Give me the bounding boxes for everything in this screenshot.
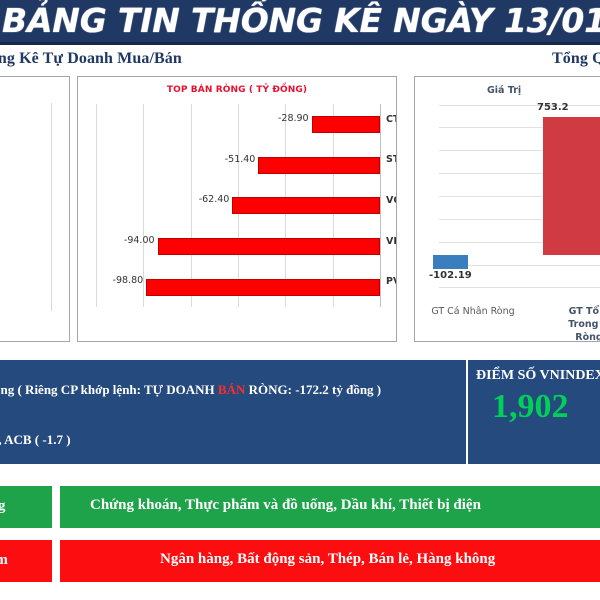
bar-category-label: CTG [386, 114, 397, 125]
category-label-gt-ca-nhan: GT Cá Nhân Ròng [423, 305, 523, 318]
chart-panel-left-clipped[interactable] [0, 76, 70, 342]
x-axis-tick-label: 0.00 [369, 340, 390, 342]
sector-tag-up: Tăng [0, 484, 54, 530]
info-line-tu-doanh: ồng ( Riêng CP khớp lệnh: TỰ DOANH BÁN R… [0, 382, 381, 398]
bar-category-label: PVD [386, 276, 397, 287]
bar-gt-ca-nhan[interactable] [433, 255, 468, 269]
bar-ctg[interactable] [312, 116, 380, 133]
info-line-acb: ), ACB ( -1.7 ) [0, 432, 71, 448]
page-header-band: BẢNG TIN THỐNG KÊ NGÀY 13/01/2026 [0, 0, 600, 44]
info-line-suffix: RÒNG: -172.2 tỷ đồng ) [245, 382, 381, 397]
x-axis-tick-label: -120.00 [78, 340, 115, 342]
sector-bar-up: Chứng khoán, Thực phẩm và đồ uống, Dầu k… [58, 484, 600, 530]
gridline [51, 103, 52, 311]
chart-title-top-ban-rong: TOP BÁN RÒNG ( TỶ ĐỒNG) [78, 85, 396, 95]
x-axis-tick-label: -80.00 [175, 340, 206, 342]
bar-vix[interactable] [158, 238, 380, 255]
x-axis-tick-label: -40.00 [270, 340, 301, 342]
info-panel-vnindex-score: ĐIỂM SỐ VNINDEX 1,902 [466, 358, 600, 466]
bar-data-label: -51.40 [225, 154, 259, 165]
bar-stb[interactable] [258, 157, 380, 174]
category-label-gt-to-chuc: GT Tổ CTrong NRòng [535, 305, 600, 342]
x-axis-tick-label: -20.00 [317, 340, 348, 342]
bar-category-label: STB [386, 154, 397, 165]
sector-tag-up-label: Tăng [0, 498, 5, 515]
gridline [380, 104, 381, 307]
bar-row: -62.40VCB [96, 185, 380, 226]
section-heading-left: Thống Kê Tự Doanh Mua/Bán [0, 50, 182, 68]
bar-data-label: -98.80 [113, 275, 147, 286]
sector-list-up: Chứng khoán, Thực phẩm và đồ uống, Dầu k… [90, 497, 481, 514]
charts-row: 53.30 80.00 TOP BÁN RÒNG ( TỶ ĐỒNG) -120… [0, 76, 600, 344]
sector-tag-down-label: Giảm [0, 552, 8, 569]
bar-label-gt-ca-nhan: -102.19 [429, 270, 472, 281]
bar-pvd[interactable] [146, 279, 380, 296]
x-axis-tick-label: -100.00 [125, 340, 162, 342]
bar-data-label: -94.00 [124, 235, 158, 246]
header-underline [0, 42, 600, 45]
vnindex-score-label: ĐIỂM SỐ VNINDEX [476, 368, 600, 384]
chart-title-gia-tri: Giá Trị [487, 85, 521, 96]
chart-panel-top-ban-rong[interactable]: TOP BÁN RÒNG ( TỶ ĐỒNG) -120.00-100.00-8… [77, 76, 397, 342]
section-heading-right: Tổng Quan [552, 50, 600, 68]
info-line-prefix: ồng ( Riêng CP khớp lệnh: TỰ DOANH [0, 382, 218, 397]
x-axis-tick-label: -60.00 [223, 340, 254, 342]
bar-data-label: -62.40 [199, 194, 233, 205]
sector-tag-down: Giảm [0, 538, 54, 584]
bar-category-label: VCB [386, 195, 397, 206]
vnindex-score-value: 1,902 [492, 388, 569, 426]
info-panel-main: ồng ( Riêng CP khớp lệnh: TỰ DOANH BÁN R… [0, 358, 468, 466]
bar-vcb[interactable] [232, 197, 380, 214]
sector-list-down: Ngân hàng, Bất động sản, Thép, Bán lẻ, H… [160, 551, 495, 568]
bar-row: -94.00VIX [96, 226, 380, 267]
info-highlight-ban: BÁN [218, 382, 245, 397]
bar-category-label: VIX [386, 236, 397, 247]
bar-gt-to-chuc[interactable] [543, 117, 600, 255]
page-title: BẢNG TIN THỐNG KÊ NGÀY 13/01/2026 [2, 0, 600, 44]
bar-row: -28.90CTG [96, 104, 380, 145]
sector-bar-down: Ngân hàng, Bất động sản, Thép, Bán lẻ, H… [58, 538, 600, 584]
bar-label-gt-to-chuc: 753.2 [537, 102, 569, 113]
bar-row: -98.80PVD [96, 266, 380, 307]
chart-plot-area: -120.00-100.00-80.00-60.00-40.00-20.000.… [96, 104, 380, 307]
bar-data-label: -28.90 [278, 113, 312, 124]
bar-row: -51.40STB [96, 145, 380, 186]
info-row: ồng ( Riêng CP khớp lệnh: TỰ DOANH BÁN R… [0, 358, 600, 466]
chart-panel-gia-tri-rong[interactable]: Giá Trị 753.2 -102.19 GT Cá Nhân Ròng GT… [414, 76, 600, 342]
